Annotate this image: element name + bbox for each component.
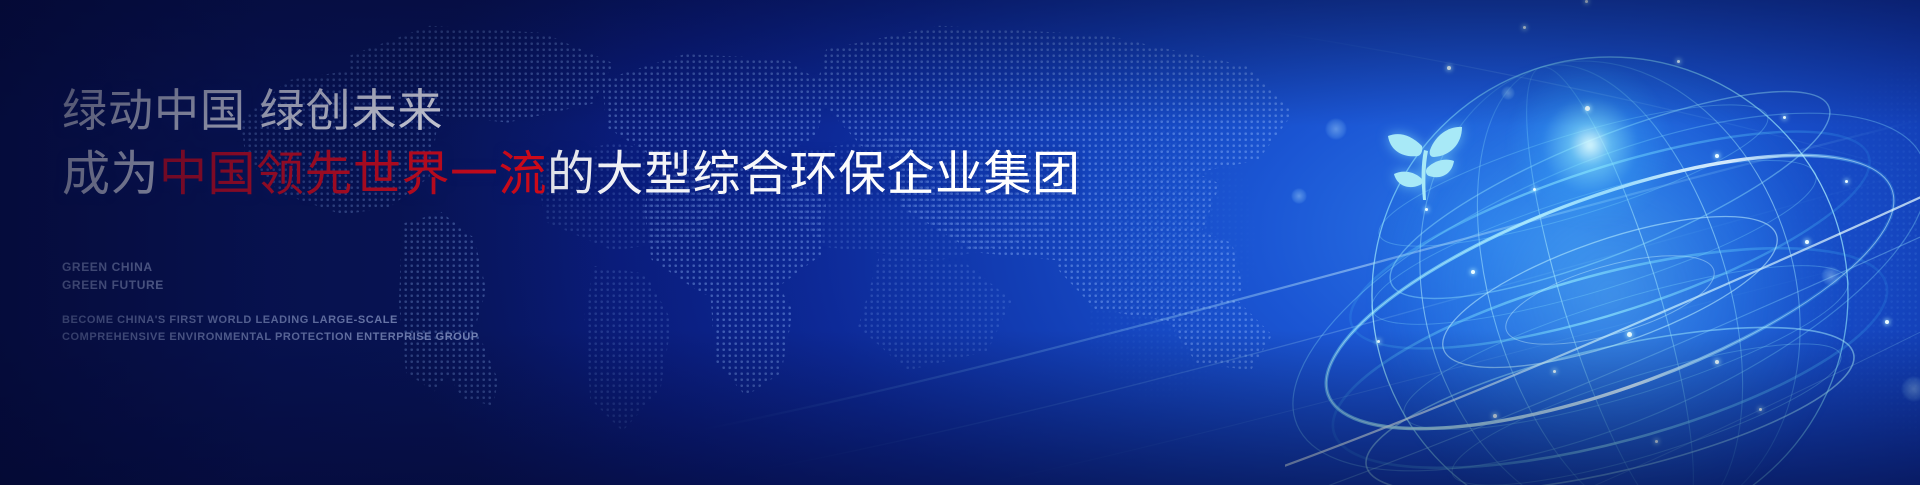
headline-line-1: 绿动中国 绿创未来: [62, 85, 444, 136]
mission-english: BECOME CHINA'S FIRST WORLD LEADING LARGE…: [62, 312, 479, 346]
hero-banner: 绿动中国 绿创未来 成为中国领先世界一流的大型综合环保企业集团 GREEN CH…: [0, 0, 1920, 485]
slogan-english: GREEN CHINA GREEN FUTURE: [62, 258, 164, 294]
halftone-left: [1090, 40, 1320, 440]
mission-line-2: COMPREHENSIVE ENVIRONMENTAL PROTECTION E…: [62, 329, 479, 346]
slogan-line-1: GREEN CHINA: [62, 258, 164, 276]
headline-highlight: 中国领先世界一流: [159, 148, 547, 201]
headline-line-2: 成为中国领先世界一流的大型综合环保企业集团: [62, 144, 1081, 205]
slogan-line-2: GREEN FUTURE: [62, 276, 164, 294]
headline-suffix: 的大型综合环保企业集团: [547, 148, 1081, 201]
headline: 绿动中国 绿创未来 成为中国领先世界一流的大型综合环保企业集团: [62, 82, 1081, 205]
headline-prefix: 成为: [62, 148, 159, 201]
copy-block: 绿动中国 绿创未来 成为中国领先世界一流的大型综合环保企业集团 GREEN CH…: [62, 0, 1062, 485]
mission-line-1: BECOME CHINA'S FIRST WORLD LEADING LARGE…: [62, 312, 479, 329]
halftone-right: [1620, 0, 1920, 485]
